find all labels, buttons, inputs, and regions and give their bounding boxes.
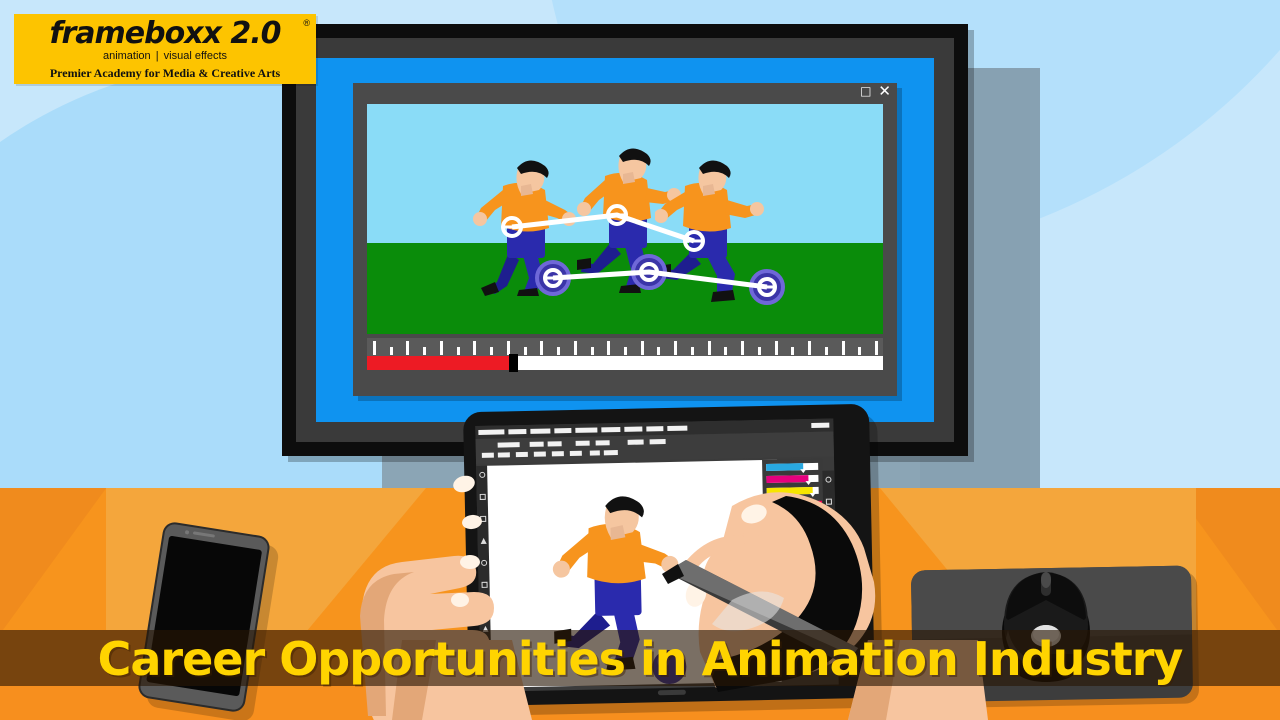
timeline-tick	[624, 347, 627, 355]
timeline-tick	[557, 347, 560, 355]
tablet-option-chip[interactable]	[570, 451, 582, 456]
logo-wordmark: frameboxx 2.0	[14, 16, 316, 51]
logo-subtitle-left: animation	[103, 50, 151, 62]
tablet-option-chip[interactable]	[534, 452, 546, 457]
timeline-tick	[858, 347, 861, 355]
timeline-tick	[390, 347, 393, 355]
timeline-tick	[406, 341, 409, 355]
logo-subtitle-right: visual effects	[164, 50, 227, 62]
timeline-tick	[574, 341, 577, 355]
timeline-tick	[775, 341, 778, 355]
cyan-slider-knob[interactable]	[801, 469, 807, 473]
phone-speaker	[193, 531, 215, 537]
timeline-tick	[607, 341, 610, 355]
page-title: Career Opportunities in Animation Indust…	[0, 628, 1280, 690]
timeline-tick	[540, 341, 543, 355]
cyan-slider[interactable]	[766, 463, 818, 471]
color-swatch-row[interactable]	[762, 459, 822, 460]
tablet-option-chip[interactable]	[604, 450, 618, 455]
timeline-tick	[524, 347, 527, 355]
timeline-tick	[490, 347, 493, 355]
tablet-option-chip[interactable]	[650, 439, 666, 444]
animation-app-window[interactable]: □ ✕	[353, 83, 897, 396]
timeline-tick	[507, 341, 510, 355]
tablet-menu-item[interactable]	[667, 426, 687, 431]
maximize-icon[interactable]: □	[860, 84, 871, 99]
timeline-tick	[657, 347, 660, 355]
runner-figure[interactable]	[655, 156, 765, 306]
tablet-menu-item[interactable]	[624, 427, 642, 432]
animation-canvas[interactable]	[367, 104, 883, 334]
timeline-progress	[367, 356, 511, 370]
timeline-tick	[373, 341, 376, 355]
timeline-tick	[741, 341, 744, 355]
tablet-option-chip[interactable]	[552, 451, 564, 456]
timeline-tick	[791, 347, 794, 355]
tablet-menu-item[interactable]	[575, 427, 597, 432]
close-icon[interactable]: ✕	[878, 84, 891, 99]
tablet-option-chip[interactable]	[596, 440, 610, 445]
tablet-menu-item[interactable]	[478, 429, 504, 435]
tablet-option-chip[interactable]	[530, 442, 544, 447]
tablet-option-chip[interactable]	[628, 440, 644, 445]
window-controls[interactable]: □ ✕	[860, 84, 891, 99]
tablet-menu-item[interactable]	[601, 427, 620, 432]
timeline-tick	[423, 347, 426, 355]
window-titlebar[interactable]: □ ✕	[353, 83, 897, 103]
logo-tagline: Premier Academy for Media & Creative Art…	[14, 66, 316, 81]
timeline-scrubber[interactable]	[367, 356, 883, 370]
timeline-tick	[842, 341, 845, 355]
timeline-tick	[724, 347, 727, 355]
tablet-menu-item[interactable]	[530, 428, 550, 433]
tablet-menu-item[interactable]	[554, 428, 571, 433]
tablet-option-chip[interactable]	[576, 441, 590, 446]
tablet-option-chip[interactable]	[590, 450, 600, 455]
timeline-tick	[674, 341, 677, 355]
timeline-tick	[641, 341, 644, 355]
timeline-playhead[interactable]	[509, 354, 518, 372]
tablet-option-chip[interactable]	[548, 441, 562, 446]
tablet-menu-item-right[interactable]	[811, 423, 829, 428]
timeline-tick	[473, 341, 476, 355]
registered-mark-icon: ®	[303, 18, 310, 28]
tablet-menu-item[interactable]	[646, 426, 663, 431]
timeline-tick	[691, 347, 694, 355]
tablet-option-chip[interactable]	[498, 452, 510, 457]
tablet-option-chip[interactable]	[516, 452, 528, 457]
cyan-slider-fill	[766, 463, 804, 471]
logo-subtitle: animation | visual effects	[14, 50, 316, 62]
frameboxx-logo[interactable]: frameboxx 2.0 ® animation | visual effec…	[14, 14, 316, 84]
timeline-tick	[825, 347, 828, 355]
timeline-tick	[875, 341, 878, 355]
timeline-tick	[591, 347, 594, 355]
timeline-tick	[808, 341, 811, 355]
tablet-option-chip[interactable]	[498, 442, 520, 447]
timeline-ruler[interactable]	[367, 338, 883, 356]
runner-figure[interactable]	[473, 156, 577, 296]
phone-camera-icon	[185, 530, 190, 535]
scene-root: □ ✕	[0, 0, 1280, 720]
timeline-tick	[457, 347, 460, 355]
logo-subtitle-separator: |	[154, 50, 161, 62]
timeline-tick	[758, 347, 761, 355]
timeline-tick	[708, 341, 711, 355]
tablet-option-chip[interactable]	[482, 453, 494, 458]
timeline-tick	[440, 341, 443, 355]
tablet-menu-item[interactable]	[508, 429, 526, 434]
